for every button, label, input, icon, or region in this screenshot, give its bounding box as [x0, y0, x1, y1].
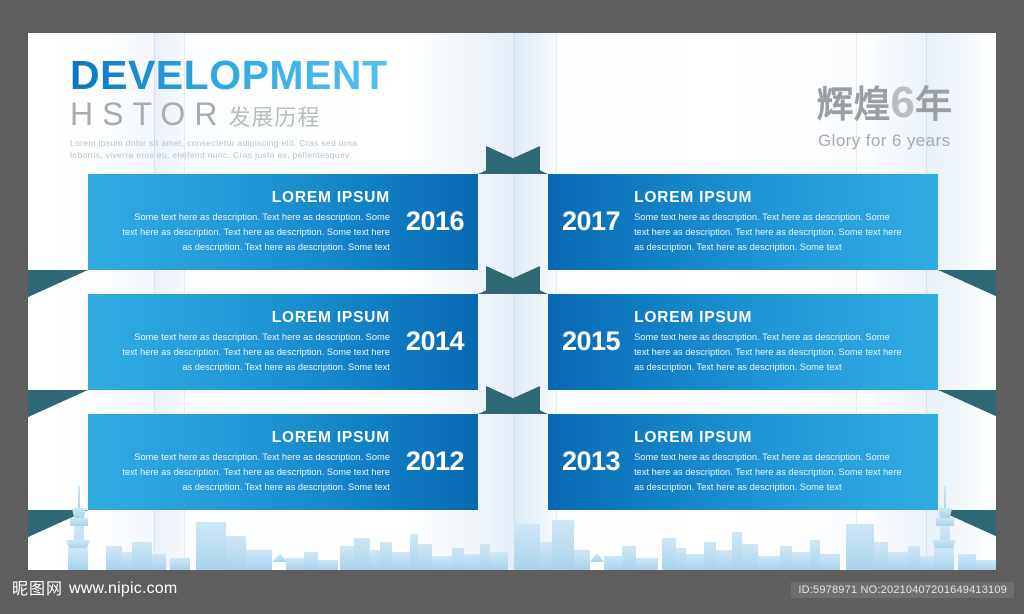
ribbon-fold-bottom-left [28, 270, 88, 298]
ribbon-description: Some text here as description. Text here… [122, 330, 390, 375]
ribbon-fold-bottom-right [938, 510, 996, 538]
ribbon-description: Some text here as description. Text here… [634, 450, 902, 495]
ribbon-body: LOREM IPSUM Some text here as descriptio… [88, 174, 478, 270]
ribbon-body: 2017 LOREM IPSUM Some text here as descr… [548, 174, 938, 270]
ribbon-year: 2013 [562, 448, 620, 475]
ribbon-body: LOREM IPSUM Some text here as descriptio… [88, 294, 478, 390]
ribbon-body: 2015 LOREM IPSUM Some text here as descr… [548, 294, 938, 390]
ribbon-year: 2012 [406, 448, 464, 475]
poster-canvas: DEVELOPMENT HSTOR 发展历程 Lorem ipsum dolor… [28, 33, 996, 570]
header-left: DEVELOPMENT HSTOR 发展历程 Lorem ipsum dolor… [70, 55, 388, 162]
ribbon-title: LOREM IPSUM [634, 189, 752, 208]
ribbon-fold-top-left [486, 386, 548, 414]
poster-subtitle-en: HSTOR [70, 98, 226, 130]
glory-cn-prefix: 辉煌 [817, 84, 891, 125]
ribbon-description: Some text here as description. Text here… [634, 210, 902, 255]
ribbon-title: LOREM IPSUM [272, 189, 390, 208]
ribbon-title: LOREM IPSUM [272, 429, 390, 448]
ribbon-fold-bottom-left [28, 510, 88, 538]
ribbon-description: Some text here as description. Text here… [122, 450, 390, 495]
timeline-ribbon-right[interactable]: 2013 LOREM IPSUM Some text here as descr… [548, 414, 938, 510]
timeline-ribbon-right[interactable]: 2017 LOREM IPSUM Some text here as descr… [548, 174, 938, 270]
glory-cn-suffix: 年 [915, 84, 952, 125]
ribbon-description: Some text here as description. Text here… [634, 330, 902, 375]
ribbon-fold-top-left [486, 146, 548, 174]
ribbon-fold-top-left [486, 266, 548, 294]
ribbon-year: 2016 [406, 208, 464, 235]
glory-en-line: Glory for 6 years [817, 132, 952, 149]
ribbon-body: 2013 LOREM IPSUM Some text here as descr… [548, 414, 938, 510]
footer-brand[interactable]: 昵图网 www.nipic.com [12, 581, 177, 597]
ribbon-year: 2017 [562, 208, 620, 235]
timeline-ribbon-left[interactable]: LOREM IPSUM Some text here as descriptio… [88, 414, 478, 510]
ribbon-title: LOREM IPSUM [272, 309, 390, 328]
ribbon-description: Some text here as description. Text here… [122, 210, 390, 255]
poster-stage: DEVELOPMENT HSTOR 发展历程 Lorem ipsum dolor… [0, 0, 1024, 614]
timeline-ribbon-left[interactable]: LOREM IPSUM Some text here as descriptio… [88, 294, 478, 390]
ribbon-title: LOREM IPSUM [634, 309, 752, 328]
nipic-logo-icon: 昵图网 [12, 581, 63, 597]
ribbon-year: 2015 [562, 328, 620, 355]
glory-cn-number: 6 [891, 78, 915, 127]
ribbon-year: 2014 [406, 328, 464, 355]
header-right: 辉煌6年 Glory for 6 years [817, 81, 952, 149]
footer-id-badge: ID:5978971 NO:20210407201649413109 [791, 582, 1014, 598]
timeline-ribbon-right[interactable]: 2015 LOREM IPSUM Some text here as descr… [548, 294, 938, 390]
glory-cn-line: 辉煌6年 [817, 81, 952, 125]
poster-lorem-text: Lorem ipsum dolor sit amet, consectetur … [70, 137, 358, 162]
ribbon-fold-bottom-right [938, 270, 996, 298]
poster-subtitle-row: HSTOR 发展历程 [70, 98, 388, 130]
ribbon-fold-bottom-left [28, 390, 88, 418]
poster-subtitle-cn: 发展历程 [228, 107, 320, 129]
ribbon-fold-bottom-right [938, 390, 996, 418]
timeline-ribbon-left[interactable]: LOREM IPSUM Some text here as descriptio… [88, 174, 478, 270]
ribbon-body: LOREM IPSUM Some text here as descriptio… [88, 414, 478, 510]
poster-main-title: DEVELOPMENT [70, 55, 388, 96]
ribbon-title: LOREM IPSUM [634, 429, 752, 448]
footer-site-url[interactable]: www.nipic.com [69, 581, 177, 597]
footer-bar: 昵图网 www.nipic.com ID:5978971 NO:20210407… [0, 570, 1024, 614]
